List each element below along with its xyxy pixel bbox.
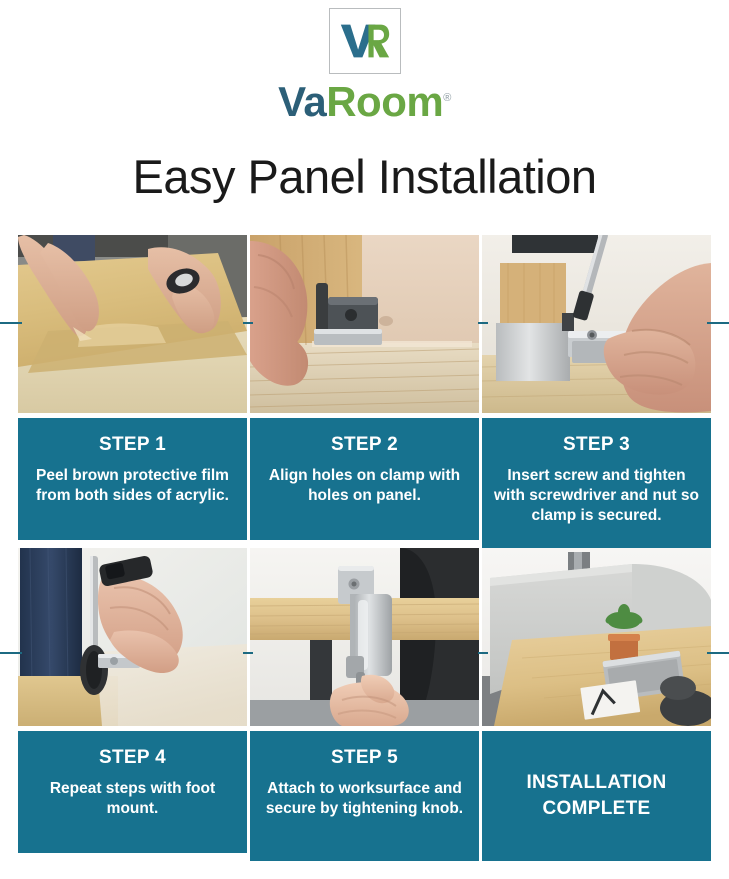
step-cell-1: STEP 1 Peel brown protective film from b…: [18, 235, 247, 548]
step-label-3: STEP 3: [494, 434, 699, 456]
scan-line-left-row2: [0, 652, 22, 654]
scan-line-mid1-row1: [243, 322, 253, 324]
brand-wordmark-room: Room: [326, 78, 443, 125]
step-description-1: Peel brown protective film from both sid…: [30, 466, 235, 506]
scan-line-right-row1: [707, 322, 729, 324]
step-label-4: STEP 4: [30, 747, 235, 769]
page-title: Easy Panel Installation: [0, 151, 729, 203]
step-card-4: STEP 4 Repeat steps with foot mount.: [18, 731, 247, 853]
step-photo-2: [250, 235, 479, 413]
step-description-5: Attach to worksurface and secure by tigh…: [262, 779, 467, 819]
step-description-2: Align holes on clamp with holes on panel…: [262, 466, 467, 506]
step-label-2: STEP 2: [262, 434, 467, 456]
step-photo-4: [18, 548, 247, 726]
scan-line-mid2-row1: [478, 322, 488, 324]
completion-card: INSTALLATION COMPLETE: [482, 731, 711, 861]
logo-mark: [329, 8, 401, 74]
brand-wordmark-va: Va: [278, 78, 326, 125]
step-photo-5: [250, 548, 479, 726]
step-cell-2: STEP 2 Align holes on clamp with holes o…: [250, 235, 479, 548]
step-label-5: STEP 5: [262, 747, 467, 769]
step-cell-3: STEP 3 Insert screw and tighten with scr…: [482, 235, 711, 548]
step-cell-4: STEP 4 Repeat steps with foot mount.: [18, 548, 247, 861]
registered-trademark-icon: ®: [443, 92, 451, 104]
step-card-1: STEP 1 Peel brown protective film from b…: [18, 418, 247, 540]
step-card-5: STEP 5 Attach to worksurface and secure …: [250, 731, 479, 861]
step-photo-3: [482, 235, 711, 413]
scan-line-right-row2: [707, 652, 729, 654]
step-card-3: STEP 3 Insert screw and tighten with scr…: [482, 418, 711, 548]
steps-grid: STEP 1 Peel brown protective film from b…: [18, 235, 711, 861]
step-description-3: Insert screw and tighten with screwdrive…: [494, 466, 699, 525]
step-description-4: Repeat steps with foot mount.: [30, 779, 235, 819]
step-photo-6: [482, 548, 711, 726]
scan-line-mid2-row2: [478, 652, 488, 654]
scan-line-mid1-row2: [243, 652, 253, 654]
step-label-1: STEP 1: [30, 434, 235, 456]
brand-wordmark: VaRoom®: [278, 81, 451, 123]
scan-line-left-row1: [0, 322, 22, 324]
step-card-2: STEP 2 Align holes on clamp with holes o…: [250, 418, 479, 540]
step-cell-6: INSTALLATION COMPLETE: [482, 548, 711, 861]
step-cell-5: STEP 5 Attach to worksurface and secure …: [250, 548, 479, 861]
brand-header: VaRoom®: [0, 0, 729, 123]
completion-label: INSTALLATION COMPLETE: [494, 747, 699, 845]
step-photo-1: [18, 235, 247, 413]
